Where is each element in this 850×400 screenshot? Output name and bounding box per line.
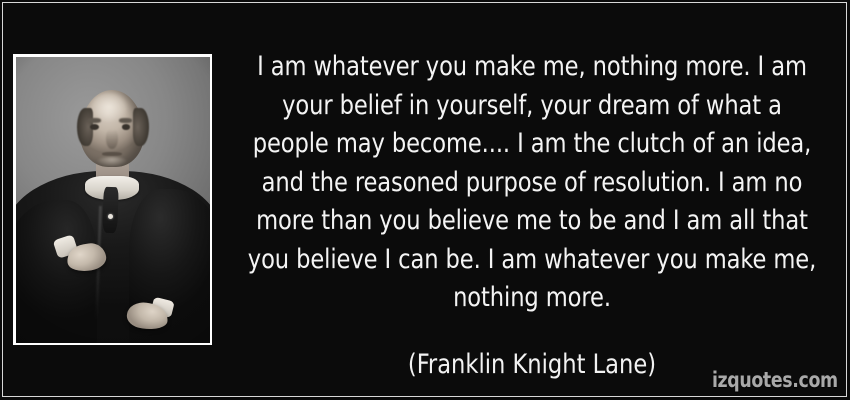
portrait-nose [106, 129, 118, 149]
quote-block: I am whatever you make me, nothing more.… [222, 48, 842, 382]
portrait-eyebrow-left [88, 118, 102, 123]
portrait-photo [16, 57, 210, 343]
portrait-shoulder-left [16, 200, 97, 343]
site-watermark: izquotes.com [712, 368, 838, 392]
portrait-frame [13, 54, 212, 345]
quote-text: I am whatever you make me, nothing more.… [244, 48, 821, 318]
portrait-tie [103, 187, 119, 233]
quote-card: I am whatever you make me, nothing more.… [0, 0, 850, 400]
portrait-mouth [102, 152, 121, 156]
portrait-eyebrow-right [119, 118, 133, 123]
portrait-hair-right [133, 108, 149, 145]
